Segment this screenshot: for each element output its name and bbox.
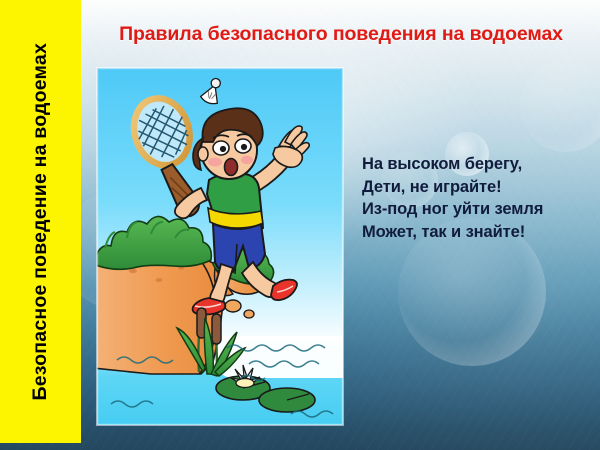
vertical-banner-label: Безопасное поведение на водоемах (31, 43, 51, 400)
illustration-artwork (97, 68, 343, 425)
poem-line: Дети, не играйте! (362, 176, 594, 199)
poem-block: На высоком берегу, Дети, не играйте! Из-… (362, 153, 594, 243)
illustration (97, 68, 343, 425)
slide: Безопасное поведение на водоемах Правила… (0, 0, 600, 450)
poem-line: Из-под ног уйти земля (362, 198, 594, 221)
vertical-banner: Безопасное поведение на водоемах (0, 0, 81, 443)
poem-line: На высоком берегу, (362, 153, 594, 176)
poem-line: Может, так и знайте! (362, 221, 594, 244)
page-title: Правила безопасного поведения на водоема… (88, 23, 594, 46)
